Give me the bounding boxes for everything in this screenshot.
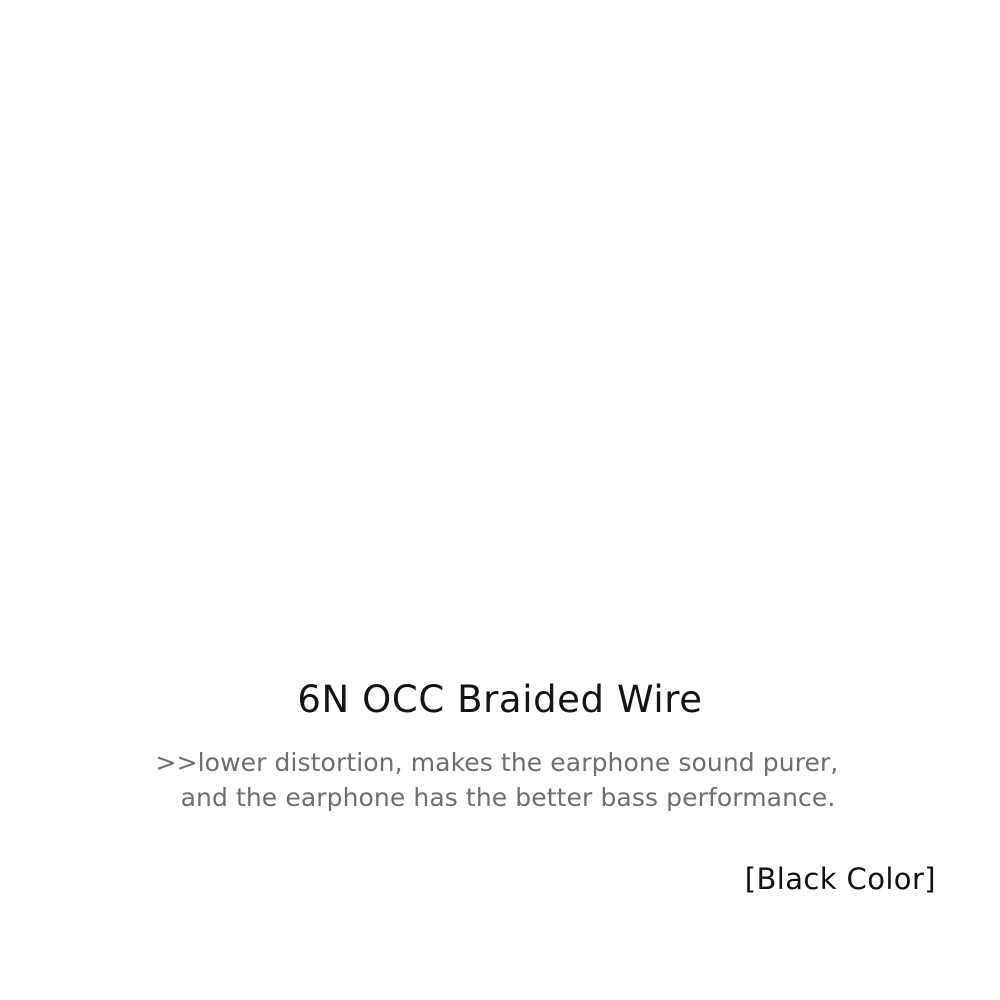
page-title: 6N OCC Braided Wire — [0, 680, 1000, 720]
caption-block: 6N OCC Braided Wire >>lower distortion, … — [0, 660, 1000, 1000]
feature-description-line-1: >>lower distortion, makes the earphone s… — [0, 746, 1000, 781]
cable-fade-overlay — [380, 330, 890, 660]
color-variant-label: [Black Color] — [745, 865, 936, 894]
cable-left-entry-fade — [0, 60, 50, 180]
feature-description-line-2: and the earphone has the better bass per… — [16, 781, 1000, 816]
feature-description: >>lower distortion, makes the earphone s… — [0, 746, 1000, 815]
braided-cable-photo — [0, 0, 1000, 660]
product-feature-page: 6N OCC Braided Wire >>lower distortion, … — [0, 0, 1000, 1000]
